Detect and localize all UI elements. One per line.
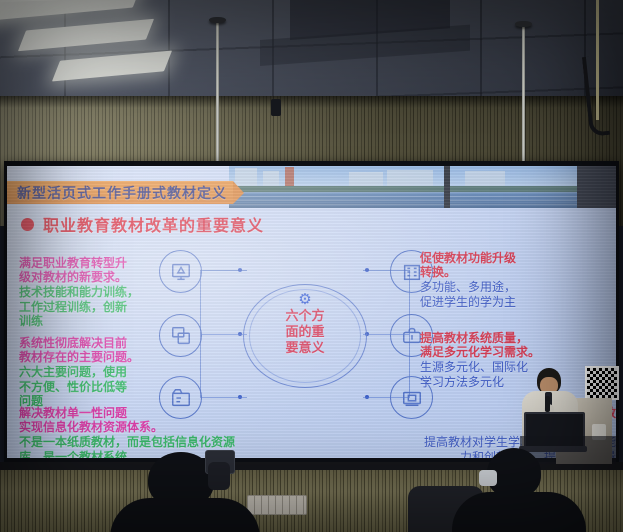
hub-label: 六个方 面的重 要意义: [243, 309, 367, 357]
left-block-2-heading: 系统性彻底解决目前 教材存在的主要问题。: [19, 336, 139, 365]
face-mask: [479, 470, 497, 486]
connector-dot: [365, 395, 369, 399]
qr-code-display: [585, 366, 619, 400]
audience-member-body-right: [452, 492, 586, 532]
slide-title: 职业教育教材改革的重要意义: [21, 212, 264, 236]
left-block-3-heading: 解决教材单一性问题 实现信息化教材资源体系。: [19, 406, 163, 435]
wall-top-shadow: [0, 96, 623, 108]
qr-code-pattern: [587, 368, 617, 398]
connector-left-1: [203, 270, 247, 319]
photo-building: [349, 172, 383, 186]
right-block-1-body: 多功能、多用途， 促进学生的学为主: [420, 280, 516, 309]
audience-member-hand: [208, 462, 230, 490]
photo-scene: 新型活页式工作手册式教材定义 职业教育教材改革的重要意义 ⚙ 六个方 面的重 要…: [0, 0, 623, 532]
slide-header-photo: [229, 166, 616, 208]
ceiling-speaker-icon: [271, 99, 281, 116]
wall-power-outlet[interactable]: [247, 495, 307, 515]
slide-banner: 新型活页式工作手册式教材定义: [7, 181, 233, 204]
slide-title-text: 职业教育教材改革的重要意义: [43, 212, 264, 236]
diagram-hub: ⚙ 六个方 面的重 要意义: [243, 284, 367, 388]
right-block-1: 促使教材功能升级 转换。 多功能、多用途， 促进学生的学为主: [420, 236, 610, 309]
left-block-3: 解决教材单一性问题 实现信息化教材资源体系。 不是一本纸质教材，而是包括信息化资…: [19, 391, 281, 458]
audience-member-body-left: [110, 498, 260, 532]
right-block-2: 提高教材系统质量， 满足多元化学习需求。 生源多元化、国际化 学习方法多元化: [420, 316, 610, 389]
right-block-2-heading: 提高教材系统质量， 满足多元化学习需求。: [420, 331, 540, 360]
connector-dot: [365, 268, 369, 272]
ceiling-support-pole-left: [216, 22, 219, 182]
pole-cap-icon: [209, 17, 226, 23]
connector-dot: [238, 332, 242, 336]
filled-circle-bullet-icon: [21, 218, 34, 231]
photo-building: [263, 171, 279, 186]
photo-building: [387, 170, 433, 186]
slide-header-right-edge: [577, 166, 616, 208]
gear-icon: ⚙: [298, 292, 311, 307]
photo-seam: [444, 166, 450, 208]
left-block-3-body: 不是一本纸质教材，而是包括信息化资源 库，是一个教材系统: [19, 435, 235, 458]
left-block-1-heading: 满足职业教育转型升 级对教材的新要求。: [19, 256, 127, 285]
photo-building: [465, 171, 505, 186]
microphone-icon: [545, 396, 550, 412]
photo-tower: [285, 167, 294, 186]
connector-dot: [238, 268, 242, 272]
right-block-2-body: 生源多元化、国际化 学习方法多元化: [420, 360, 528, 389]
pole-cap-icon: [515, 21, 532, 27]
left-block-1: 满足职业教育转型升 级对教材的新要求。 技术技能和能力训练， 工作过程训练，创新…: [19, 241, 191, 329]
ceiling-support-pole-right: [522, 26, 525, 176]
photo-water-ripples: [229, 192, 616, 208]
right-block-1-heading: 促使教材功能升级 转换。: [420, 251, 516, 280]
